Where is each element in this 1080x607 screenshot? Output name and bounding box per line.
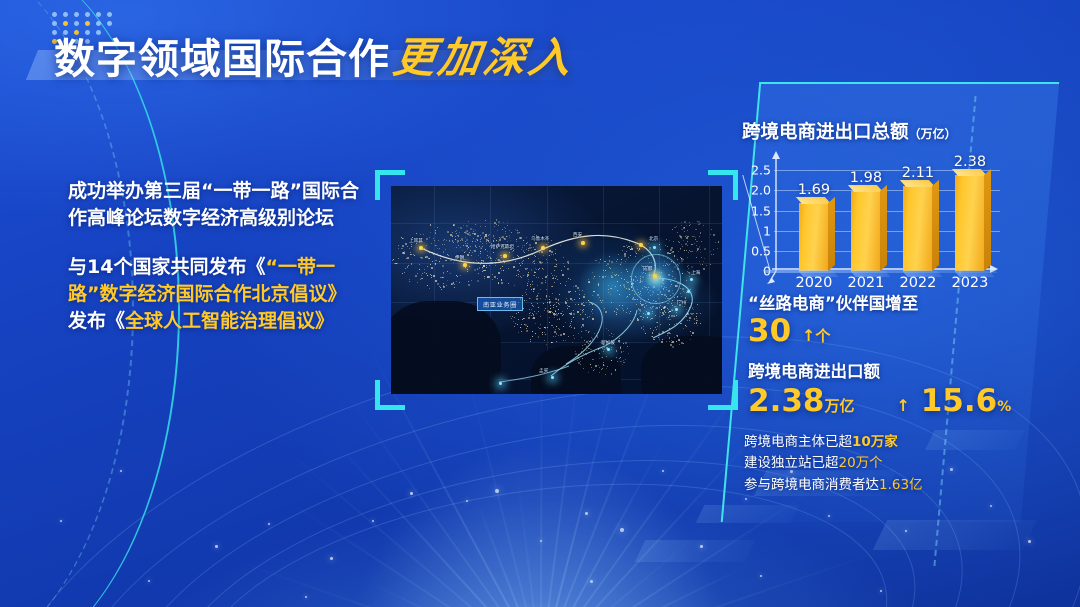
growth-value-group: ↑ 15.6% (897, 384, 1012, 420)
left-text-block: 成功举办第三届“一带一路”国际合作高峰论坛数字经济高级别论坛 与14个国家共同发… (68, 178, 368, 335)
paragraph-initiative: 与14个国家共同发布《“一带一路”数字经济国际合作北京倡议》 发布《全球人工智能… (68, 254, 368, 335)
chart-bar: 2.112022 (903, 186, 932, 271)
growth-value: 15.6 (921, 383, 998, 419)
dot-grid-dot (74, 12, 79, 17)
chart-bar-side (932, 180, 939, 271)
background-particle (760, 575, 762, 577)
bar-chart: 2.52.01.510.501.6920201.9820212.1120222.… (742, 156, 1000, 271)
map-region-tag: 南亚业务圈 (477, 297, 523, 311)
map-city-label: 北京 (649, 236, 658, 242)
dot-grid-dot (52, 12, 57, 17)
chart-bar-side (984, 169, 991, 271)
background-particle (305, 596, 307, 598)
dot-grid-dot (63, 12, 68, 17)
map-city-label: 哈萨克斯坦 (491, 244, 514, 250)
chart-xtick-label: 2020 (795, 275, 832, 291)
chart-bar-value: 1.98 (850, 170, 882, 186)
chart-bar-side (880, 185, 887, 271)
trade-value-group: 2.38万亿 (748, 384, 855, 420)
map-city-label: 乌鲁木齐 (531, 236, 549, 242)
partner-label: “丝路电商”伙伴国增至 (748, 290, 1018, 314)
partner-arrow-icon: ↑ (802, 326, 815, 345)
slide-header: 数字领域国际合作 更加深入 (0, 0, 640, 100)
stats-block: “丝路电商”伙伴国增至 30 ↑个 跨境电商进出口额 2.38万亿 ↑ 15.6… (748, 290, 1018, 419)
stats-bottom-value: 20万个 (839, 455, 883, 471)
chart-title-text: 跨境电商进出口总额 (742, 122, 909, 143)
background-particle (880, 590, 882, 592)
chart-bar-value: 1.69 (798, 182, 830, 198)
dot-grid-dot (96, 12, 101, 17)
map-figure: 上耳其伊朗哈萨克斯坦乌鲁木齐西安北京成都上海广州孟买新加坡 南亚业务圈 (375, 170, 738, 410)
stats-bottom-prefix: 建设独立站已超 (744, 455, 839, 471)
map-city-label: 上耳其 (409, 238, 423, 244)
chart-bar-top (900, 180, 935, 187)
map-city-label: 新加坡 (601, 340, 615, 346)
chart-bar: 1.692020 (799, 203, 828, 271)
chart-bar: 1.982021 (851, 191, 880, 271)
map-node-city (653, 274, 657, 278)
map-city-label: 孟买 (539, 368, 548, 374)
map-city-label: 上海 (691, 270, 700, 276)
map-night-earth-image: 上耳其伊朗哈萨克斯坦乌鲁木齐西安北京成都上海广州孟买新加坡 南亚业务圈 (391, 186, 722, 394)
stats-bottom-prefix: 跨境电商主体已超 (744, 434, 852, 450)
background-particle (148, 580, 150, 582)
chart-xtick-label: 2022 (899, 275, 936, 291)
background-particle (268, 523, 270, 525)
map-node-city (503, 254, 507, 258)
chart-bar-face (799, 203, 828, 271)
map-city-label: 成都 (643, 266, 652, 272)
background-particle (215, 545, 218, 548)
map-city-label: 广州 (677, 300, 686, 306)
page-title-main: 数字领域国际合作 (54, 25, 390, 85)
growth-unit: % (997, 399, 1011, 415)
stats-bottom-value: 10万家 (852, 434, 898, 450)
chart-xtick-label: 2023 (951, 275, 988, 291)
chart-bar-face (851, 191, 880, 271)
slide-canvas: 数字领域国际合作 更加深入 成功举办第三届“一带一路”国际合作高峰论坛数字经济高… (0, 0, 1080, 607)
map-city-label: 西安 (573, 232, 582, 238)
map-node-city (581, 241, 585, 245)
stats-bottom-prefix: 参与跨境电商消费者达 (744, 477, 879, 493)
background-center-glow (330, 437, 750, 607)
page-title-accent: 更加深入 (390, 24, 591, 85)
stats-bottom-line: 跨境电商主体已超10万家 (744, 432, 1024, 453)
chart-title-unit: （万亿） (909, 127, 957, 141)
chart-title: 跨境电商进出口总额（万亿） (742, 118, 1000, 144)
map-node-city (541, 246, 545, 250)
chart-bar-value: 2.38 (954, 154, 986, 170)
chart-bar-top (848, 185, 883, 192)
map-city-label: 伊朗 (455, 255, 464, 261)
partner-value: 30 (748, 313, 791, 349)
trade-unit: 万亿 (825, 397, 855, 415)
map-hub-ring (631, 254, 681, 304)
map-node-city (463, 263, 467, 267)
chart-bar: 2.382023 (955, 175, 984, 271)
chart-bar-value: 2.11 (902, 165, 934, 181)
paragraph-forum: 成功举办第三届“一带一路”国际合作高峰论坛数字经济高级别论坛 (68, 178, 368, 232)
dot-grid-dot (107, 12, 112, 17)
stats-bottom-value: 1.63亿 (879, 477, 923, 493)
trade-label: 跨境电商进出口额 (748, 358, 1018, 382)
partner-value-row: 30 ↑个 (748, 314, 1018, 350)
chart-bar-face (903, 186, 932, 271)
paragraph-initiative-white: 与14个国家共同发布《 (68, 256, 265, 278)
chart-baseline (763, 270, 998, 273)
chart-block: 跨境电商进出口总额（万亿） 2.52.01.510.501.6920201.98… (742, 118, 1000, 271)
trade-value-row: 2.38万亿 ↑ 15.6% (748, 384, 1018, 420)
chart-xtick-label: 2021 (847, 275, 884, 291)
map-node-city (419, 246, 423, 250)
trade-value: 2.38 (748, 383, 825, 419)
chart-bar-side (828, 197, 835, 271)
partner-unit: 个 (815, 327, 830, 345)
page-title: 数字领域国际合作 更加深入 (54, 24, 586, 85)
chart-bar-top (796, 197, 831, 204)
stats-bottom-block: 跨境电商主体已超10万家建设独立站已超20万个参与跨境电商消费者达1.63亿 (744, 432, 1024, 496)
paragraph-ai-highlight: 全球人工智能治理倡议》 (125, 310, 334, 332)
chart-bar-top (952, 169, 987, 176)
stats-bottom-line: 参与跨境电商消费者达1.63亿 (744, 475, 1024, 496)
background-particle (905, 530, 907, 532)
chart-bar-face (955, 175, 984, 271)
dot-grid-dot (85, 12, 90, 17)
growth-arrow-icon: ↑ (897, 396, 910, 415)
stats-bottom-line: 建设独立站已超20万个 (744, 453, 1024, 474)
paragraph-ai-white: 发布《 (68, 310, 125, 332)
map-node-city (639, 243, 643, 247)
